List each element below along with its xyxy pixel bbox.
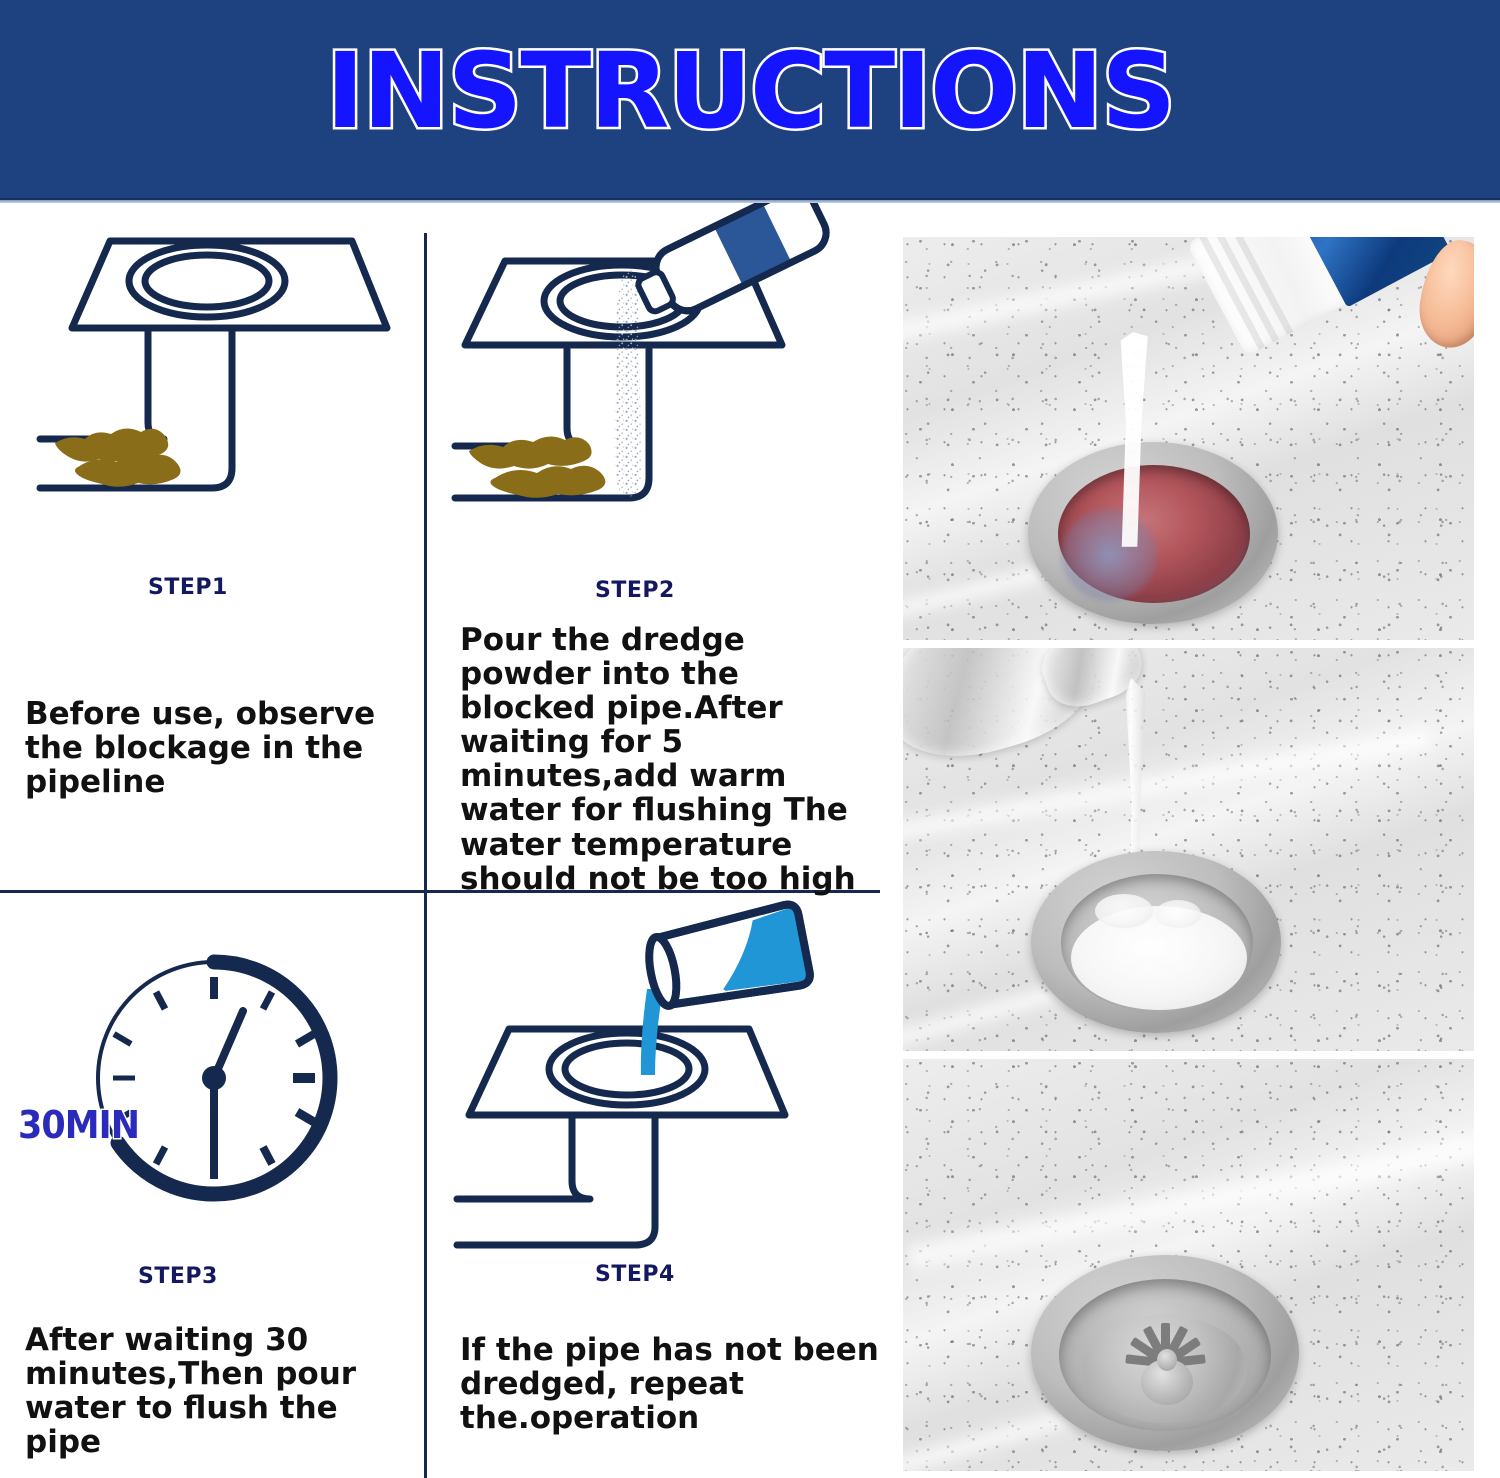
powder-stream xyxy=(614,269,641,497)
water-glass xyxy=(643,903,812,1013)
photo-clean-drain xyxy=(903,1059,1474,1471)
drain-strainer xyxy=(1083,1315,1247,1423)
clock-icon xyxy=(0,893,424,1273)
step-label-4: STEP4 xyxy=(595,1262,675,1287)
strainer-stem xyxy=(1157,1349,1177,1371)
powder-pouring-diagram xyxy=(427,203,880,603)
instructions-infographic: INSTRUCTIONS STEP1 Before xyxy=(0,0,1500,1475)
step-caption-2: Pour the dredge powder into the blocked … xyxy=(460,623,880,896)
diagram-grid: STEP1 Before use, observe the blockage i… xyxy=(0,203,880,1475)
step-panel-4: STEP4 If the pipe has not been dredged, … xyxy=(427,893,880,1478)
foam-bubble xyxy=(1155,900,1201,928)
drain-blockage-diagram xyxy=(0,203,424,603)
step-panel-1: STEP1 Before use, observe the blockage i… xyxy=(0,203,424,890)
photo-pouring-powder xyxy=(903,237,1474,640)
foam-bubble xyxy=(1095,894,1153,928)
step-panel-3: 30MIN STEP3 After waiting 30 minutes,The… xyxy=(0,893,424,1478)
photo-column xyxy=(903,237,1474,1471)
blockage-clumps xyxy=(469,436,605,497)
step-caption-1: Before use, observe the blockage in the … xyxy=(25,697,415,799)
water-flush-diagram xyxy=(427,893,880,1273)
dredge-powder-bottle xyxy=(629,203,832,327)
step-caption-3: After waiting 30 minutes,Then pour water… xyxy=(25,1323,395,1459)
drain-bluish-patch xyxy=(1061,509,1157,601)
duration-badge: 30MIN xyxy=(18,1103,139,1147)
page-title: INSTRUCTIONS xyxy=(0,30,1500,152)
step-label-3: STEP3 xyxy=(138,1264,218,1289)
step-panel-2: STEP2 Pour the dredge powder into the bl… xyxy=(427,203,880,890)
step-label-2: STEP2 xyxy=(595,578,675,603)
step-caption-4: If the pipe has not been dredged, repeat… xyxy=(460,1333,880,1435)
photo-pouring-water xyxy=(903,648,1474,1051)
step-label-1: STEP1 xyxy=(148,575,228,600)
header-banner: INSTRUCTIONS xyxy=(0,0,1500,198)
clock-center-pin xyxy=(202,1066,226,1090)
